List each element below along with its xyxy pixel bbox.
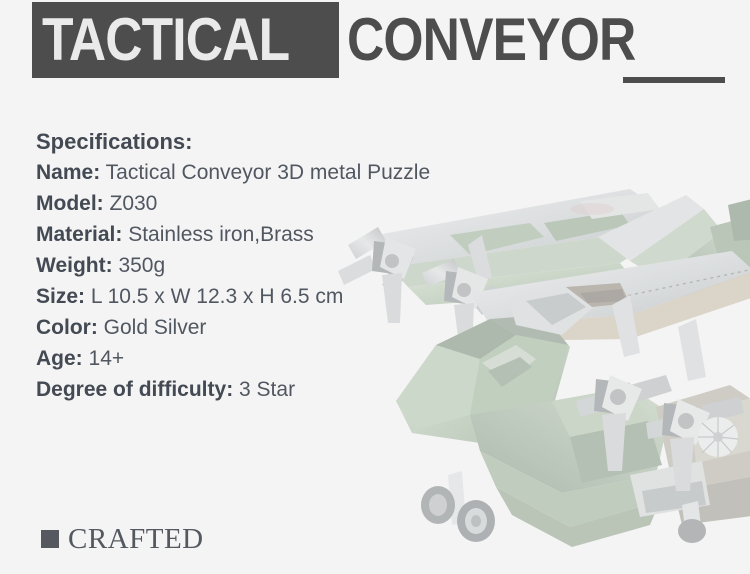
spec-value-age: 14+ — [89, 347, 125, 370]
spec-value-model: Z030 — [110, 192, 158, 215]
banner-header: TACTICAL CONVEYOR — [0, 0, 750, 100]
title-accent-underline — [623, 77, 725, 83]
spec-label-age: Age: — [36, 347, 83, 370]
footer-brand-text: CRAFTED — [68, 524, 204, 554]
product-spec-banner: TACTICAL CONVEYOR Specifications: Name: … — [0, 0, 750, 574]
aircraft-rear-fan — [698, 417, 738, 457]
title-word-tactical: TACTICAL — [42, 10, 289, 70]
footer-brand: CRAFTED — [41, 524, 204, 554]
spec-row-model: Model: Z030 — [36, 188, 596, 219]
square-bullet-icon — [41, 530, 59, 548]
spec-row-difficulty: Degree of difficulty: 3 Star — [36, 374, 596, 405]
spec-row-name: Name: Tactical Conveyor 3D metal Puzzle — [36, 157, 596, 188]
spec-label-weight: Weight: — [36, 254, 113, 277]
spec-row-color: Color: Gold Silver — [36, 312, 596, 343]
spec-label-model: Model: — [36, 192, 104, 215]
spec-label-size: Size: — [36, 285, 85, 308]
spec-value-difficulty: 3 Star — [239, 378, 295, 401]
title-word-conveyor: CONVEYOR — [347, 2, 635, 78]
aircraft-landing-gear — [421, 471, 706, 543]
spec-label-color: Color: — [36, 316, 98, 339]
specifications-heading: Specifications: — [36, 126, 596, 157]
spec-value-material: Stainless iron,Brass — [128, 223, 314, 246]
spec-row-weight: Weight: 350g — [36, 250, 596, 281]
spec-label-name: Name: — [36, 161, 100, 184]
spec-row-size: Size: L 10.5 x W 12.3 x H 6.5 cm — [36, 281, 596, 312]
spec-label-difficulty: Degree of difficulty: — [36, 378, 233, 401]
title-highlight-box: TACTICAL — [32, 2, 339, 78]
spec-value-size: L 10.5 x W 12.3 x H 6.5 cm — [91, 285, 344, 308]
specifications-block: Specifications: Name: Tactical Conveyor … — [36, 126, 596, 405]
spec-value-weight: 350g — [118, 254, 165, 277]
aircraft-propeller-4 — [646, 319, 744, 491]
spec-row-age: Age: 14+ — [36, 343, 596, 374]
aircraft-tail — [598, 195, 750, 297]
spec-value-color: Gold Silver — [104, 316, 207, 339]
spec-label-material: Material: — [36, 223, 122, 246]
spec-row-material: Material: Stainless iron,Brass — [36, 219, 596, 250]
spec-value-name: Tactical Conveyor 3D metal Puzzle — [106, 161, 430, 184]
